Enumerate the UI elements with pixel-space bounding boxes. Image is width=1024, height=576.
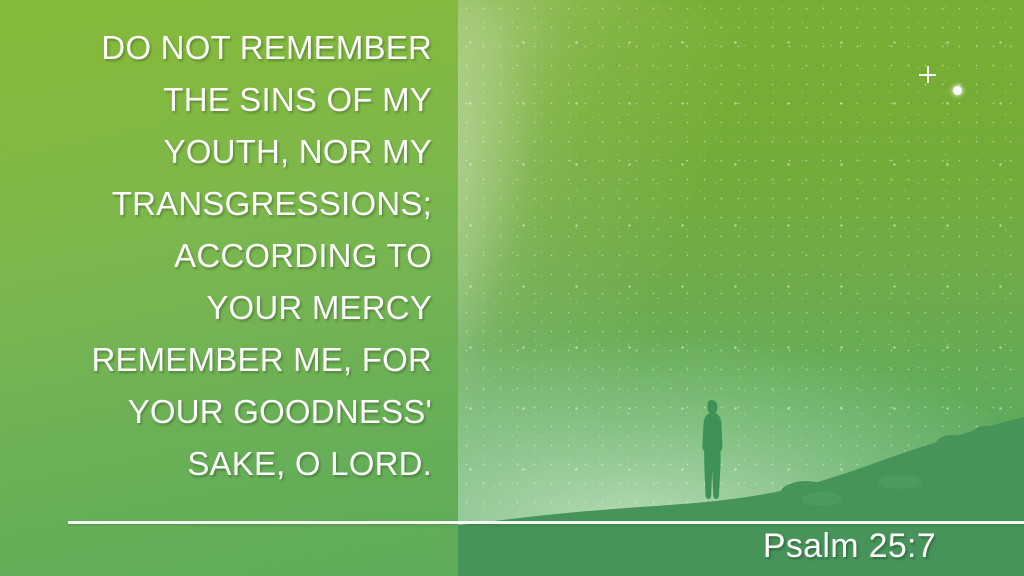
cross-star-icon [919,66,936,83]
scripture-reference: Psalm 25:7 [763,524,936,568]
quote-panel: DO NOT REMEMBER THE SINS OF MY YOUTH, NO… [0,0,458,576]
bright-star-icon [953,86,962,95]
scripture-slide: DO NOT REMEMBER THE SINS OF MY YOUTH, NO… [0,0,1024,576]
person-silhouette [697,398,727,500]
quote-text: DO NOT REMEMBER THE SINS OF MY YOUTH, NO… [0,22,432,490]
